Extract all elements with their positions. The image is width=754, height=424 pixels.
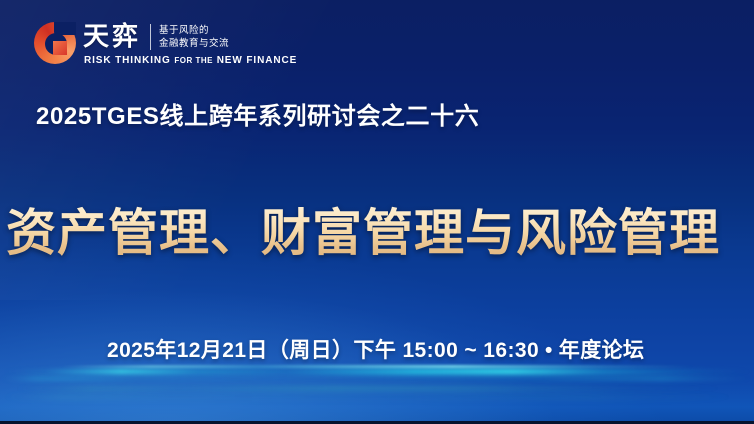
- background-glow-lower: [0, 150, 754, 424]
- bottom-light-streaks: [0, 364, 754, 424]
- logo-divider: [150, 24, 151, 50]
- event-dateline: 2025年12月21日（周日）下午 15:00 ~ 16:30•年度论坛: [107, 334, 644, 364]
- webinar-poster: 天弈 基于风险的 金融教育与交流 RISK THINKING FOR THE N…: [0, 0, 754, 424]
- brand-name-cn: 天弈: [83, 22, 141, 52]
- tagline-part2: FOR THE: [174, 56, 213, 65]
- brand-logo[interactable]: 天弈 基于风险的 金融教育与交流 RISK THINKING FOR THE N…: [34, 22, 297, 66]
- event-category: 年度论坛: [559, 339, 645, 362]
- series-subtitle: 2025TGES线上跨年系列研讨会之二十六: [36, 96, 479, 131]
- tagline-part1: RISK THINKING: [84, 55, 171, 66]
- page-title: 资产管理、财富管理与风险管理 （一）: [6, 204, 754, 262]
- tianyi-circle-mark-icon: [34, 22, 76, 64]
- logo-text-group: 天弈 基于风险的 金融教育与交流 RISK THINKING FOR THE N…: [83, 22, 297, 66]
- brand-tagline: RISK THINKING FOR THE NEW FINANCE: [84, 55, 297, 66]
- brand-descriptor-line1: 基于风险的: [159, 24, 229, 37]
- event-datetime: 2025年12月21日（周日）下午 15:00 ~ 16:30: [107, 339, 539, 362]
- dateline-separator: •: [539, 339, 559, 362]
- brand-descriptor-line2: 金融教育与交流: [159, 37, 229, 50]
- brand-descriptor: 基于风险的 金融教育与交流: [159, 24, 229, 50]
- tagline-part3: NEW FINANCE: [217, 55, 297, 66]
